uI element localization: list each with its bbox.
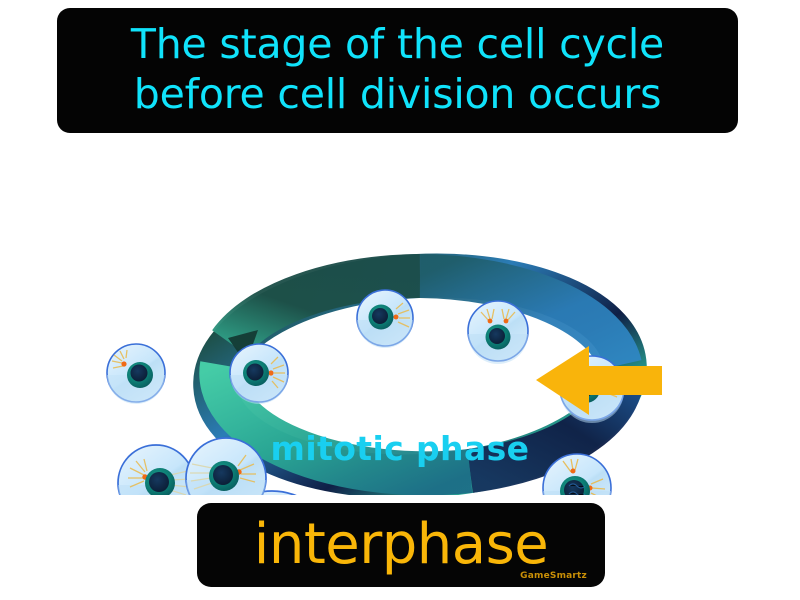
term-label-box: interphase GameSmartz [197, 503, 605, 587]
interphase-cell-2 [230, 344, 288, 404]
term-label-text: interphase [254, 516, 548, 574]
definition-line-1: The stage of the cell cycle [131, 19, 664, 69]
definition-line-2: before cell division occurs [134, 69, 661, 119]
interphase-cell-1 [107, 344, 165, 404]
interphase-cell-3 [357, 290, 413, 348]
definition-banner: The stage of the cell cycle before cell … [57, 8, 738, 133]
cell-cycle-diagram: mitotic phase [0, 133, 800, 495]
cell-cycle-illustration [0, 133, 800, 495]
watermark-gamesmartz: GameSmartz [520, 571, 587, 581]
daughter-cell-1 [118, 445, 194, 495]
interphase-cell-4 [468, 301, 528, 364]
